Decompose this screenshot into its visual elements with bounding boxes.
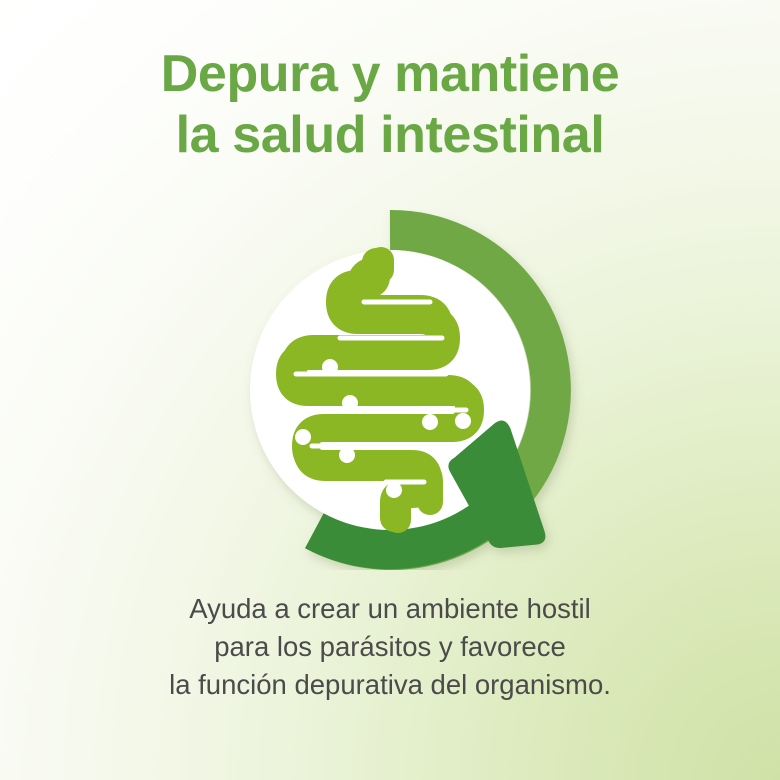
page-title: Depura y mantiene la salud intestinal bbox=[0, 44, 780, 167]
intestine-refresh-circle-icon bbox=[190, 210, 590, 570]
poster-canvas: Depura y mantiene la salud intestinal bbox=[0, 0, 780, 780]
caption-text: Ayuda a crear un ambiente hostil para lo… bbox=[0, 590, 780, 704]
